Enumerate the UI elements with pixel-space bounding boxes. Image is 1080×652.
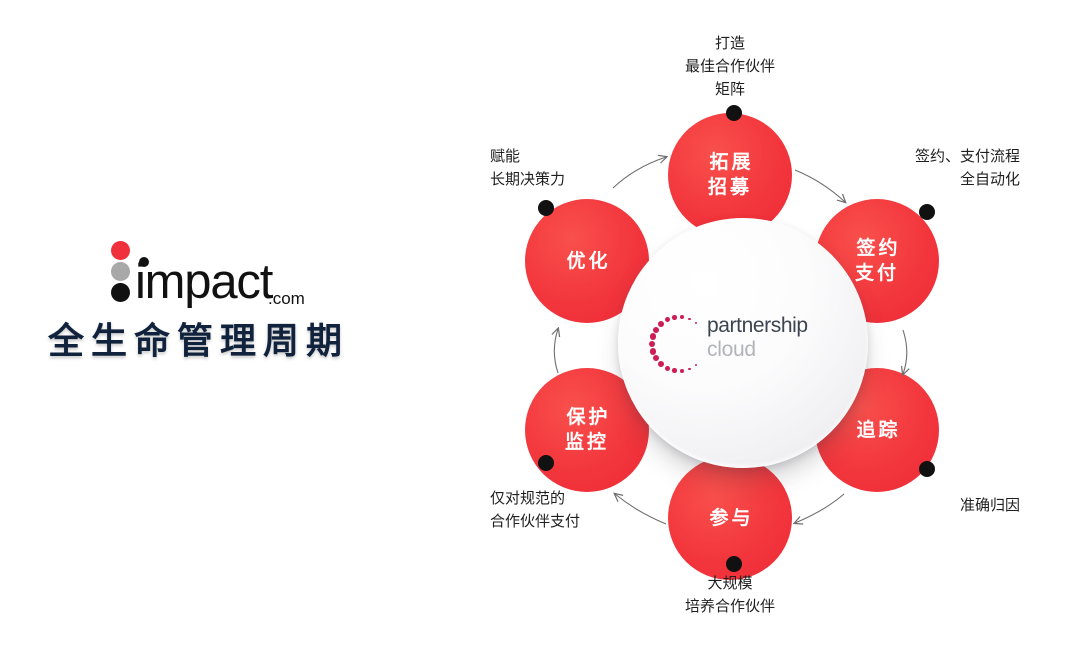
node-engage-label: 参与 (706, 506, 753, 531)
marker-dot-expand-recruit-icon (726, 105, 742, 121)
caption-top: 打造 最佳合作伙伴 矩阵 (640, 32, 820, 101)
caption-bottom-right: 准确归因 (840, 494, 1020, 517)
impact-logo-dots (108, 241, 134, 303)
partnership-cloud-logo: partnership cloud (645, 306, 841, 380)
impact-logo-wordmark: impact (135, 258, 272, 307)
node-optimize-label: 优化 (563, 249, 610, 274)
logo-dot-gray-icon (111, 262, 130, 281)
centre-disc: partnership cloud (618, 218, 868, 468)
caption-bottom: 大规模 培养合作伙伴 (640, 572, 820, 618)
arrow-expand-to-contract (795, 170, 845, 202)
logo-dot-black-icon (111, 283, 130, 302)
page-title: 全生命管理周期 (48, 318, 408, 364)
caption-top-left: 赋能 长期决策力 (490, 145, 670, 191)
node-protect-monitor-label: 保护 监控 (563, 405, 610, 455)
caption-top-right: 签约、支付流程 全自动化 (840, 145, 1020, 191)
slide-canvas: impact .com 全生命管理周期 (0, 0, 1080, 652)
impact-logo-tld: .com (268, 290, 305, 307)
marker-dot-engage-icon (726, 556, 742, 572)
arrow-protect-to-optimize (554, 329, 558, 373)
marker-dot-track-icon (919, 461, 935, 477)
arrow-contract-to-track (903, 330, 907, 374)
marker-dot-optimize-icon (538, 200, 554, 216)
left-panel: impact .com 全生命管理周期 (0, 0, 440, 652)
node-expand-recruit-label: 拓展 招募 (706, 150, 753, 200)
impact-logo: impact .com (108, 240, 358, 306)
partnership-cloud-line2: cloud (707, 338, 841, 362)
partnership-cloud-line1: partnership (707, 314, 841, 338)
partnership-cloud-dot-arc-icon (645, 310, 713, 378)
marker-dot-protect-monitor-icon (538, 455, 554, 471)
caption-bottom-left: 仅对规范的 合作伙伴支付 (490, 487, 670, 533)
partnership-cloud-wordmark: partnership cloud (707, 314, 841, 362)
marker-dot-contract-pay-icon (919, 204, 935, 220)
logo-dot-red-icon (111, 241, 130, 260)
arrow-track-to-engage (795, 494, 844, 523)
lifecycle-diagram: 拓展 招募 签约 支付 追踪 参与 保护 监控 优化 (440, 0, 1080, 652)
centre-disc-inner: partnership cloud (618, 218, 868, 468)
